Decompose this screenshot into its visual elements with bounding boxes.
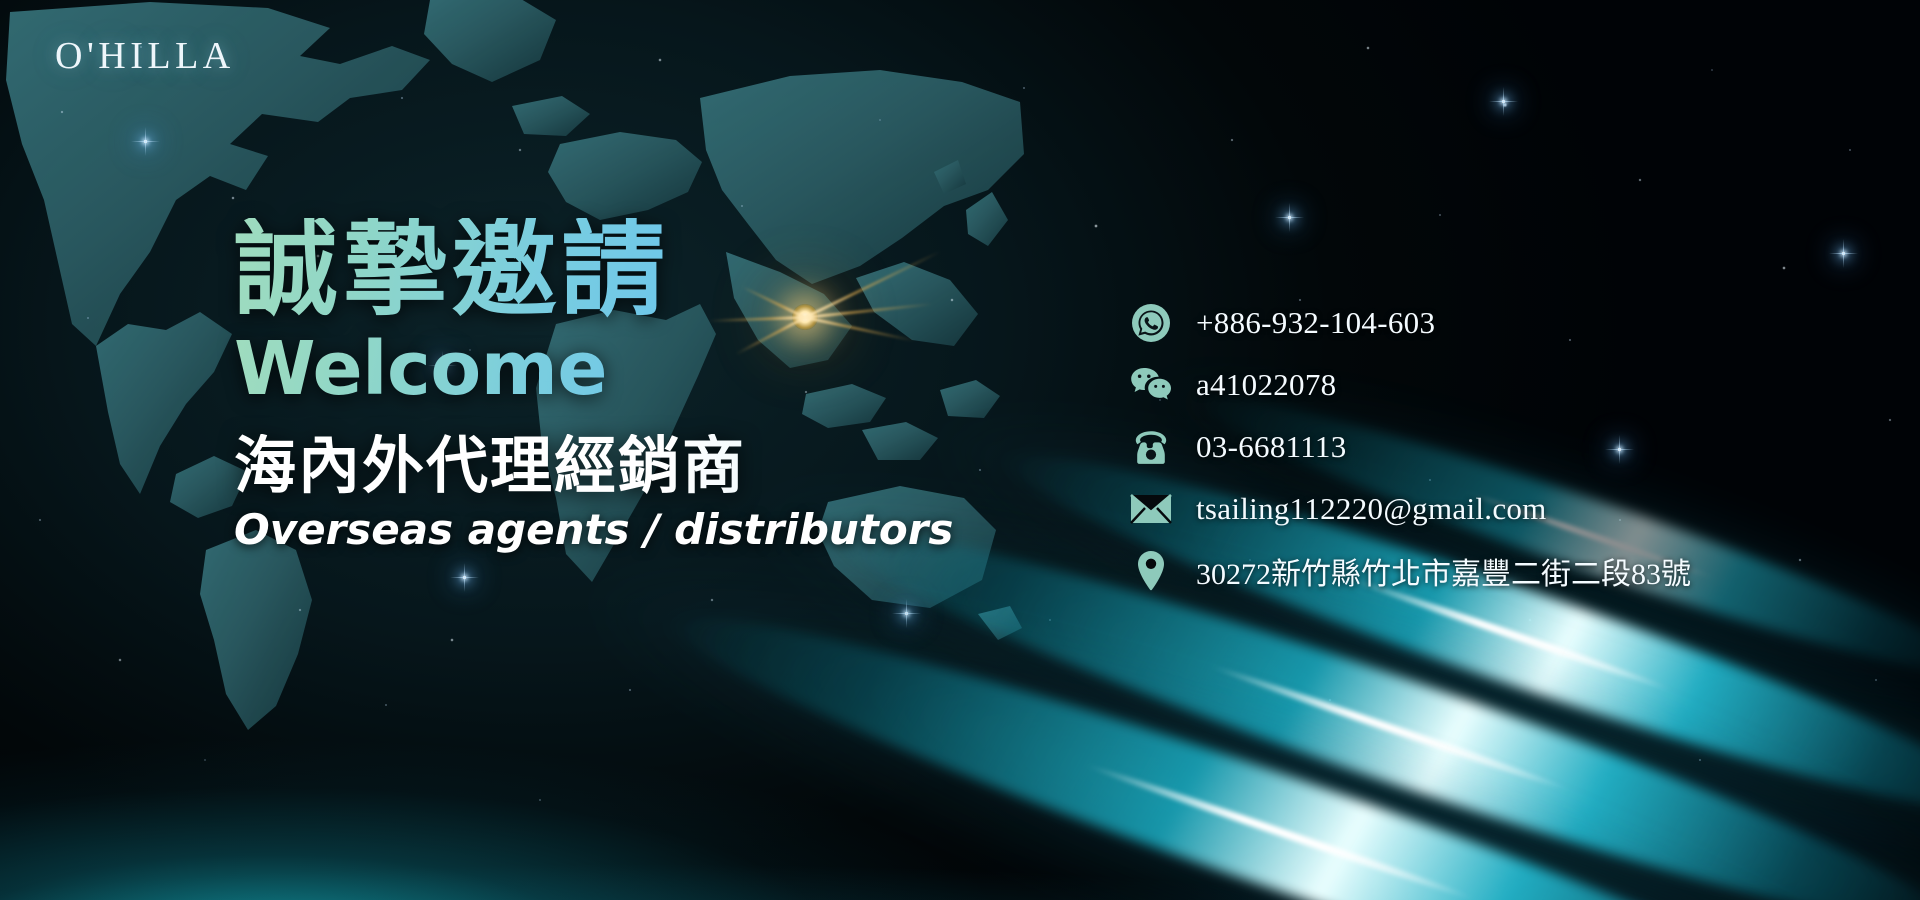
contact-row-whatsapp[interactable]: +886-932-104-603 [1128,292,1691,354]
headline-title-en: Welcome [234,332,1054,406]
contact-value-whatsapp: +886-932-104-603 [1196,305,1435,341]
contact-list: +886-932-104-603 a41022078 [1128,292,1691,602]
contact-value-wechat: a41022078 [1196,367,1336,403]
headline-title-zh: 誠摯邀請 [234,218,1054,322]
contact-value-address: 30272新竹縣竹北市嘉豐二街二段83號 [1196,549,1691,593]
contact-row-address[interactable]: 30272新竹縣竹北市嘉豐二街二段83號 [1128,540,1691,602]
wechat-icon [1128,362,1174,408]
headline-subtitle-en: Overseas agents / distributors [234,505,1054,554]
contact-row-wechat[interactable]: a41022078 [1128,354,1691,416]
headline-block: 誠摯邀請 Welcome 海內外代理經銷商 Overseas agents / … [234,218,1054,554]
telephone-icon [1128,424,1174,470]
banner-content: O'HILLA 誠摯邀請 Welcome 海內外代理經銷商 Overseas a… [0,0,1920,900]
headline-subtitle-zh: 海內外代理經銷商 [234,434,1054,499]
location-pin-icon [1128,548,1174,594]
contact-value-email: tsailing112220@gmail.com [1196,491,1547,527]
invitation-banner: O'HILLA 誠摯邀請 Welcome 海內外代理經銷商 Overseas a… [0,0,1920,900]
contact-value-telephone: 03-6681113 [1196,429,1347,465]
contact-row-telephone[interactable]: 03-6681113 [1128,416,1691,478]
whatsapp-icon [1128,300,1174,346]
email-icon [1128,486,1174,532]
brand-logo: O'HILLA [55,34,235,78]
contact-row-email[interactable]: tsailing112220@gmail.com [1128,478,1691,540]
